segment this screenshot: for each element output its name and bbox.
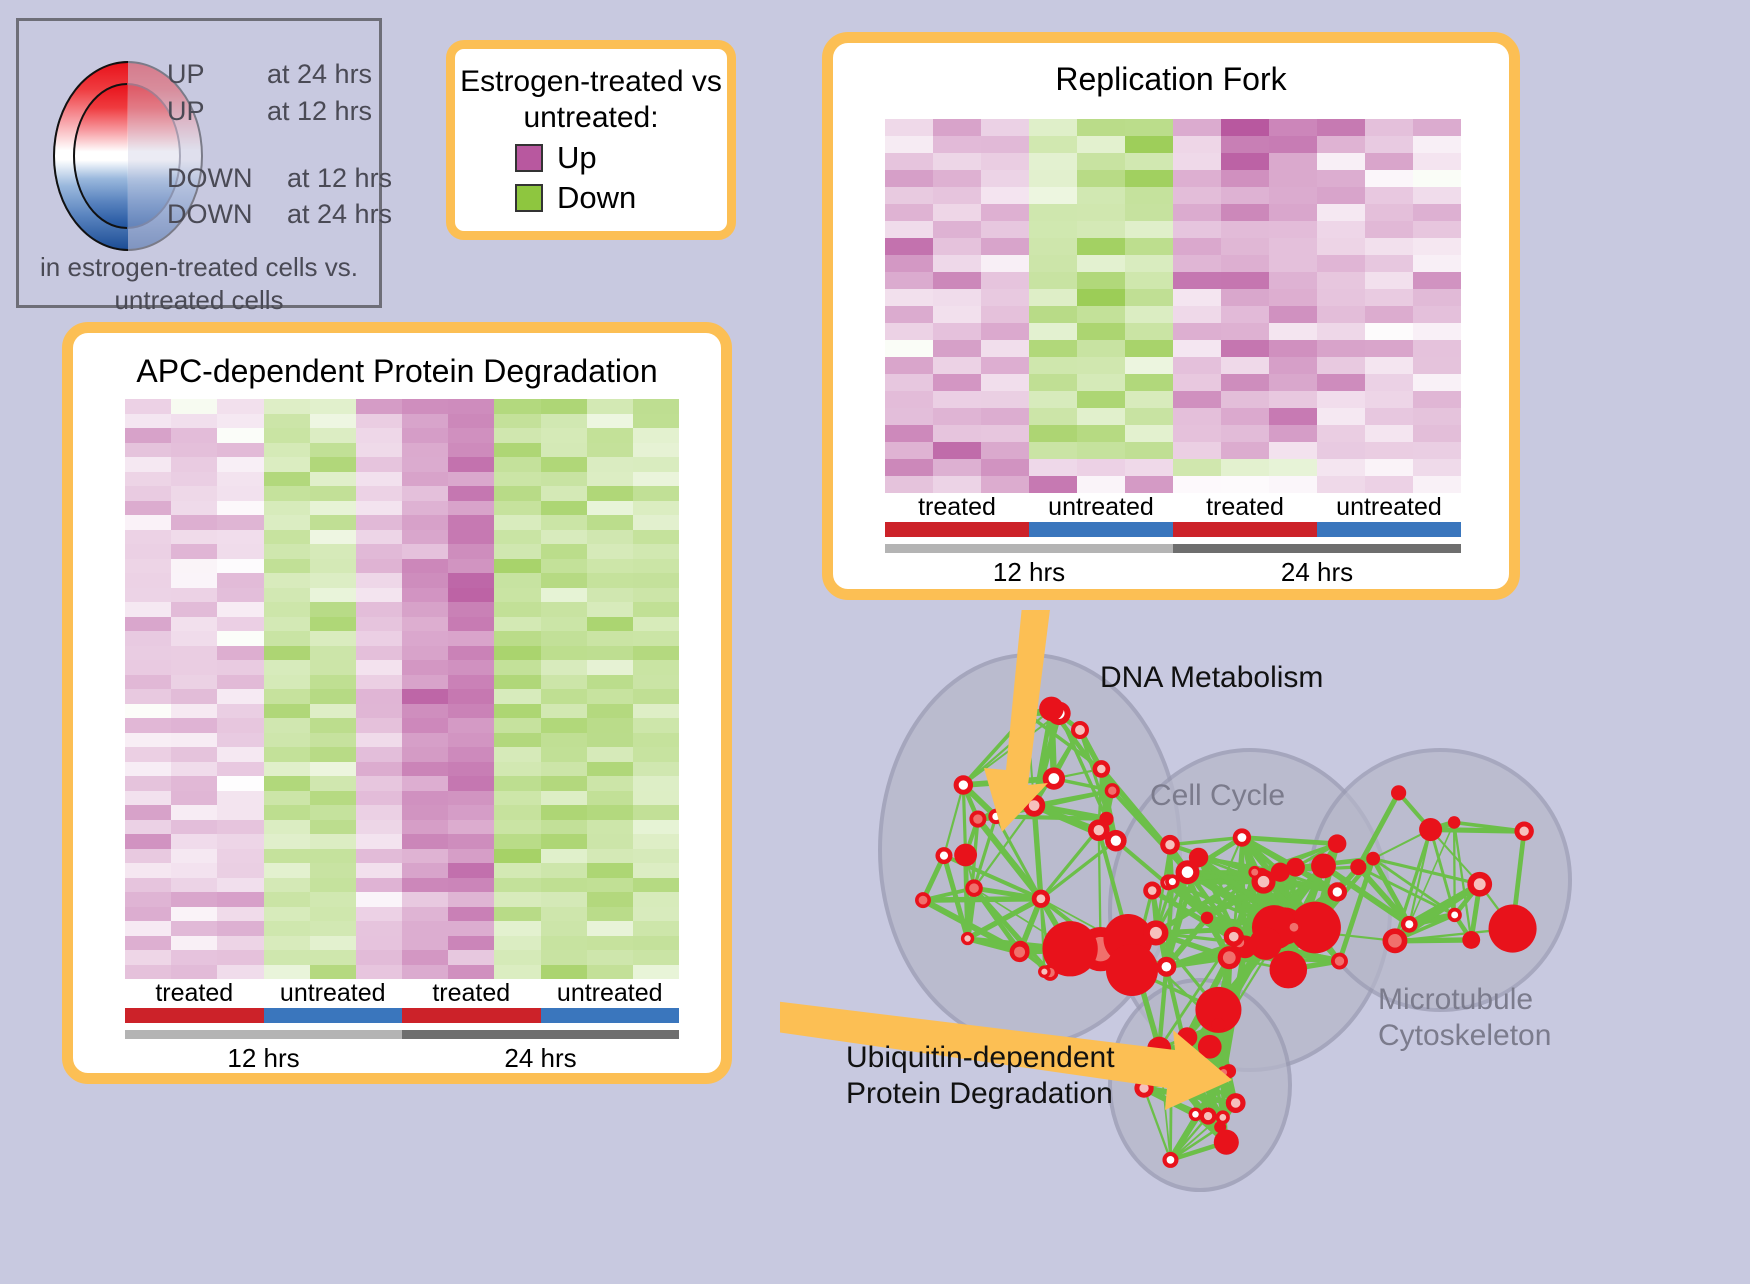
heatmap-cell xyxy=(1029,136,1077,153)
heatmap-cell xyxy=(1125,153,1173,170)
heatmap-cell xyxy=(1125,476,1173,493)
heatmap-cell xyxy=(217,704,263,719)
heatmap-cell xyxy=(402,776,448,791)
heatmap-cell xyxy=(933,408,981,425)
condition-color-bar xyxy=(1029,522,1173,537)
heatmap-cell xyxy=(1413,374,1461,391)
heatmap-cell xyxy=(356,443,402,458)
heatmap-cell xyxy=(310,776,356,791)
condition-color-bar xyxy=(264,1008,403,1023)
heatmap-cell xyxy=(310,863,356,878)
heatmap-cell xyxy=(1269,340,1317,357)
heatmap-cell xyxy=(264,588,310,603)
legend-row-down: Down xyxy=(515,180,636,216)
network-node-core xyxy=(1474,878,1486,890)
heatmap-cell xyxy=(587,414,633,429)
heatmap-cell xyxy=(1173,204,1221,221)
heatmap-cell xyxy=(494,791,540,806)
heatmap-cell xyxy=(310,399,356,414)
heatmap-cell xyxy=(448,878,494,893)
heatmap-cell xyxy=(1269,255,1317,272)
heatmap-cell xyxy=(541,863,587,878)
network-node[interactable] xyxy=(1350,859,1366,875)
heatmap-cell xyxy=(633,675,679,690)
heatmap-cell xyxy=(587,588,633,603)
heatmap-cell xyxy=(1317,255,1365,272)
network-node[interactable] xyxy=(954,844,977,867)
heatmap-cell xyxy=(633,399,679,414)
heatmap-cell xyxy=(494,747,540,762)
heatmap-cell xyxy=(494,892,540,907)
heatmap-cell xyxy=(494,588,540,603)
heatmap-cell xyxy=(541,704,587,719)
heatmap-cell xyxy=(981,238,1029,255)
heatmap-cell xyxy=(171,805,217,820)
heatmap-cell xyxy=(125,733,171,748)
heatmap-cell xyxy=(448,805,494,820)
heatmap-cell xyxy=(541,646,587,661)
heatmap-cell xyxy=(402,907,448,922)
heatmap-cell xyxy=(402,892,448,907)
network-node[interactable] xyxy=(1201,912,1213,924)
network-node-core xyxy=(1048,773,1059,784)
heatmap-cell xyxy=(633,486,679,501)
heatmap-cell xyxy=(448,443,494,458)
condition-label: treated xyxy=(402,979,541,1008)
heatmap-cell xyxy=(1077,357,1125,374)
heatmap-cell xyxy=(402,472,448,487)
network-node[interactable] xyxy=(1214,1130,1239,1155)
heatmap-cell xyxy=(356,776,402,791)
heatmap-cell xyxy=(1173,153,1221,170)
heatmap-cell xyxy=(494,762,540,777)
network-node[interactable] xyxy=(1366,852,1380,866)
heatmap-cell xyxy=(494,515,540,530)
network-node-core xyxy=(1290,923,1299,932)
heatmap-cell xyxy=(1221,459,1269,476)
heatmap-cell xyxy=(1125,425,1173,442)
legend-caption: in estrogen-treated cells vs. untreated … xyxy=(19,251,379,317)
heatmap-cell xyxy=(933,119,981,136)
heatmap-cell xyxy=(125,414,171,429)
heatmap-cell xyxy=(1365,153,1413,170)
network-node-core xyxy=(1251,869,1258,876)
heatmap-cell xyxy=(981,289,1029,306)
heatmap-cell xyxy=(448,733,494,748)
heatmap-cell xyxy=(125,704,171,719)
heatmap-cell xyxy=(125,863,171,878)
apc-condition-labels: treateduntreatedtreateduntreated xyxy=(125,979,679,1008)
heatmap-cell xyxy=(402,834,448,849)
heatmap-cell xyxy=(402,530,448,545)
heatmap-cell xyxy=(1269,306,1317,323)
heatmap-cell xyxy=(1077,323,1125,340)
network-node-core xyxy=(1388,934,1402,948)
heatmap-cell xyxy=(633,936,679,951)
heatmap-cell xyxy=(125,501,171,516)
heatmap-cell xyxy=(587,530,633,545)
heatmap-cell xyxy=(1413,238,1461,255)
heatmap-cell xyxy=(1269,119,1317,136)
heatmap-cell xyxy=(171,428,217,443)
heatmap-cell xyxy=(356,834,402,849)
heatmap-cell xyxy=(494,486,540,501)
heatmap-cell xyxy=(448,457,494,472)
heatmap-cell xyxy=(125,588,171,603)
heatmap-cell xyxy=(310,617,356,632)
network-node[interactable] xyxy=(1269,951,1307,989)
heatmap-cell xyxy=(264,486,310,501)
heatmap-cell xyxy=(494,820,540,835)
heatmap-cell xyxy=(356,573,402,588)
network-node-core xyxy=(1167,1156,1175,1164)
heatmap-cell xyxy=(1125,170,1173,187)
heatmap-cell xyxy=(1077,476,1125,493)
heatmap-cell xyxy=(1173,119,1221,136)
heatmap-cell xyxy=(587,878,633,893)
heatmap-cell xyxy=(1365,442,1413,459)
network-node-core xyxy=(1204,1112,1212,1120)
heatmap-cell xyxy=(1125,323,1173,340)
heatmap-cell xyxy=(125,559,171,574)
heatmap-cell xyxy=(310,950,356,965)
heatmap-cell xyxy=(1317,204,1365,221)
heatmap-cell xyxy=(541,573,587,588)
heatmap-cell xyxy=(981,357,1029,374)
heatmap-cell xyxy=(541,559,587,574)
heatmap-cell xyxy=(356,660,402,675)
heatmap-cell xyxy=(1269,221,1317,238)
heatmap-cell xyxy=(217,414,263,429)
heatmap-cell xyxy=(402,849,448,864)
heatmap-cell xyxy=(633,892,679,907)
heatmap-cell xyxy=(1029,153,1077,170)
heatmap-cell xyxy=(981,374,1029,391)
network-node[interactable] xyxy=(1448,816,1461,829)
heatmap-cell xyxy=(217,559,263,574)
heatmap-cell xyxy=(264,573,310,588)
heatmap-cell xyxy=(402,457,448,472)
network-node[interactable] xyxy=(1391,785,1406,800)
heatmap-cell xyxy=(587,617,633,632)
heatmap-cell xyxy=(981,476,1029,493)
heatmap-cell xyxy=(310,849,356,864)
heatmap-cell xyxy=(402,660,448,675)
network-node[interactable] xyxy=(1039,697,1064,722)
heatmap-cell xyxy=(1317,476,1365,493)
heatmap-cell xyxy=(310,486,356,501)
heatmap-cell xyxy=(541,689,587,704)
heatmap-cell xyxy=(981,391,1029,408)
heatmap-cell xyxy=(981,187,1029,204)
heatmap-cell xyxy=(402,762,448,777)
heatmap-cell xyxy=(587,704,633,719)
heatmap-cell xyxy=(264,443,310,458)
time-label: 24 hrs xyxy=(1173,557,1461,588)
heatmap-cell xyxy=(1173,408,1221,425)
heatmap-cell xyxy=(587,805,633,820)
heatmap-cell xyxy=(125,718,171,733)
network-node-core xyxy=(1192,1111,1199,1118)
heatmap-cell xyxy=(356,965,402,980)
heatmap-cell xyxy=(402,602,448,617)
heatmap-cell xyxy=(217,472,263,487)
heatmap-cell xyxy=(1413,204,1461,221)
network-node[interactable] xyxy=(1286,858,1305,877)
heatmap-cell xyxy=(402,878,448,893)
heatmap-cell xyxy=(310,704,356,719)
time-color-bar xyxy=(125,1030,402,1039)
network-node[interactable] xyxy=(1189,848,1208,867)
heatmap-cell xyxy=(633,863,679,878)
replication-fork-time-bar xyxy=(885,544,1461,553)
network-node-core xyxy=(1219,1114,1226,1121)
heatmap-cell xyxy=(1029,170,1077,187)
heatmap-cell xyxy=(1413,323,1461,340)
network-node-core xyxy=(1014,947,1025,958)
heatmap-cell xyxy=(541,602,587,617)
heatmap-cell xyxy=(633,965,679,980)
heatmap-cell xyxy=(356,863,402,878)
heatmap-cell xyxy=(1317,119,1365,136)
heatmap-cell xyxy=(217,820,263,835)
heatmap-cell xyxy=(1365,323,1413,340)
condition-color-bar xyxy=(1173,522,1317,537)
time-label: 12 hrs xyxy=(125,1043,402,1074)
heatmap-cell xyxy=(1365,374,1413,391)
heatmap-cell xyxy=(981,323,1029,340)
heatmap-cell xyxy=(494,834,540,849)
heatmap-cell xyxy=(402,921,448,936)
heatmap-cell xyxy=(125,878,171,893)
heatmap-cell xyxy=(264,849,310,864)
heatmap-cell xyxy=(356,588,402,603)
heatmap-cell xyxy=(448,646,494,661)
heatmap-cell xyxy=(494,573,540,588)
heatmap-cell xyxy=(448,820,494,835)
heatmap-cell xyxy=(448,718,494,733)
heatmap-cell xyxy=(1221,153,1269,170)
heatmap-cell xyxy=(264,733,310,748)
heatmap-cell xyxy=(448,472,494,487)
heatmap-cell xyxy=(1365,204,1413,221)
time-color-bar xyxy=(885,544,1173,553)
heatmap-cell xyxy=(494,965,540,980)
heatmap-cell xyxy=(1317,238,1365,255)
heatmap-cell xyxy=(217,907,263,922)
heatmap-cell xyxy=(125,631,171,646)
heatmap-cell xyxy=(402,950,448,965)
heatmap-cell xyxy=(1269,170,1317,187)
heatmap-cell xyxy=(264,863,310,878)
network-node-core xyxy=(1162,962,1172,972)
heatmap-cell xyxy=(981,306,1029,323)
heatmap-cell xyxy=(356,921,402,936)
heatmap-cell xyxy=(264,747,310,762)
heatmap-cell xyxy=(1029,476,1077,493)
heatmap-cell xyxy=(587,486,633,501)
heatmap-cell xyxy=(356,849,402,864)
updown-legend-title: Estrogen-treated vs untreated: xyxy=(455,64,727,136)
time-label: 12 hrs xyxy=(885,557,1173,588)
heatmap-cell xyxy=(981,459,1029,476)
heatmap-cell xyxy=(1173,323,1221,340)
network-node-core xyxy=(1036,894,1045,903)
heatmap-cell xyxy=(541,762,587,777)
time-color-bar xyxy=(1173,544,1461,553)
heatmap-cell xyxy=(217,660,263,675)
heatmap-cell xyxy=(633,515,679,530)
heatmap-cell xyxy=(587,501,633,516)
heatmap-cell xyxy=(310,414,356,429)
heatmap-cell xyxy=(494,921,540,936)
heatmap-cell xyxy=(1317,408,1365,425)
heatmap-cell xyxy=(494,878,540,893)
heatmap-cell xyxy=(171,762,217,777)
heatmap-cell xyxy=(402,486,448,501)
heatmap-cell xyxy=(1365,119,1413,136)
condition-color-bar xyxy=(402,1008,541,1023)
heatmap-cell xyxy=(981,204,1029,221)
heatmap-cell xyxy=(1413,153,1461,170)
heatmap-cell xyxy=(448,704,494,719)
heatmap-cell xyxy=(310,878,356,893)
heatmap-cell xyxy=(1029,255,1077,272)
heatmap-cell xyxy=(541,936,587,951)
heatmap-cell xyxy=(356,486,402,501)
heatmap-cell xyxy=(981,255,1029,272)
replication-fork-plot: treateduntreatedtreateduntreated 12 hrs2… xyxy=(885,119,1461,588)
heatmap-cell xyxy=(264,515,310,530)
heatmap-cell xyxy=(310,675,356,690)
heatmap-cell xyxy=(1077,153,1125,170)
heatmap-cell xyxy=(171,602,217,617)
heatmap-cell xyxy=(171,733,217,748)
heatmap-cell xyxy=(310,791,356,806)
heatmap-cell xyxy=(448,486,494,501)
heatmap-cell xyxy=(1413,391,1461,408)
heatmap-cell xyxy=(587,907,633,922)
heatmap-cell xyxy=(448,863,494,878)
heatmap-cell xyxy=(264,950,310,965)
heatmap-cell xyxy=(1077,272,1125,289)
heatmap-cell xyxy=(171,617,217,632)
network-node[interactable] xyxy=(1106,944,1158,996)
heatmap-cell xyxy=(217,573,263,588)
heatmap-cell xyxy=(541,515,587,530)
network-node[interactable] xyxy=(1462,931,1480,949)
network-node-core xyxy=(919,896,928,905)
heatmap-cell xyxy=(541,428,587,443)
heatmap-cell xyxy=(633,921,679,936)
heatmap-cell xyxy=(633,718,679,733)
network-node-core xyxy=(959,780,968,789)
heatmap-cell xyxy=(310,530,356,545)
heatmap-cell xyxy=(264,414,310,429)
heatmap-cell xyxy=(541,660,587,675)
heatmap-cell xyxy=(933,323,981,340)
heatmap-cell xyxy=(587,863,633,878)
heatmap-cell xyxy=(1173,221,1221,238)
heatmap-cell xyxy=(587,718,633,733)
heatmap-cell xyxy=(217,602,263,617)
wheel-value-down-24: at 24 hrs xyxy=(287,199,392,230)
condition-color-bar xyxy=(1317,522,1461,537)
heatmap-cell xyxy=(356,747,402,762)
network-node[interactable] xyxy=(1211,1018,1225,1032)
heatmap-cell xyxy=(171,675,217,690)
heatmap-cell xyxy=(494,733,540,748)
heatmap-cell xyxy=(171,472,217,487)
heatmap-cell xyxy=(933,340,981,357)
heatmap-cell xyxy=(1221,136,1269,153)
network-node[interactable] xyxy=(1489,905,1537,953)
heatmap-cell xyxy=(1125,459,1173,476)
replication-fork-heatmap xyxy=(885,119,1461,493)
heatmap-cell xyxy=(1365,425,1413,442)
network-node[interactable] xyxy=(1328,834,1347,853)
heatmap-cell xyxy=(448,617,494,632)
heatmap-cell xyxy=(1413,272,1461,289)
network-node[interactable] xyxy=(1311,853,1336,878)
colorwheel-diagram xyxy=(53,43,183,253)
heatmap-cell xyxy=(1077,136,1125,153)
heatmap-cell xyxy=(402,544,448,559)
heatmap-cell xyxy=(171,747,217,762)
heatmap-cell xyxy=(125,486,171,501)
heatmap-cell xyxy=(633,602,679,617)
heatmap-cell xyxy=(1365,476,1413,493)
heatmap-cell xyxy=(933,238,981,255)
heatmap-cell xyxy=(310,762,356,777)
condition-label: untreated xyxy=(541,979,680,1008)
heatmap-cell xyxy=(1317,187,1365,204)
heatmap-cell xyxy=(402,936,448,951)
down-swatch-icon xyxy=(515,184,543,212)
heatmap-cell xyxy=(981,442,1029,459)
heatmap-cell xyxy=(264,530,310,545)
network-node-core xyxy=(1041,969,1047,975)
heatmap-cell xyxy=(1365,221,1413,238)
network-node-core xyxy=(1223,951,1236,964)
up-label: Up xyxy=(557,140,597,176)
heatmap-cell xyxy=(633,689,679,704)
heatmap-cell xyxy=(264,762,310,777)
heatmap-cell xyxy=(1365,459,1413,476)
heatmap-cell xyxy=(217,544,263,559)
heatmap-cell xyxy=(1413,255,1461,272)
heatmap-cell xyxy=(125,892,171,907)
heatmap-cell xyxy=(448,892,494,907)
heatmap-cell xyxy=(587,443,633,458)
heatmap-cell xyxy=(541,747,587,762)
heatmap-cell xyxy=(633,530,679,545)
network-node-core xyxy=(940,852,948,860)
heatmap-cell xyxy=(1077,170,1125,187)
heatmap-cell xyxy=(1413,187,1461,204)
down-label: Down xyxy=(557,180,636,216)
heatmap-cell xyxy=(310,573,356,588)
heatmap-cell xyxy=(885,442,933,459)
heatmap-cell xyxy=(494,399,540,414)
heatmap-cell xyxy=(171,573,217,588)
heatmap-cell xyxy=(217,834,263,849)
heatmap-cell xyxy=(125,834,171,849)
heatmap-cell xyxy=(494,849,540,864)
network-node[interactable] xyxy=(1419,818,1442,841)
apc-title: APC-dependent Protein Degradation xyxy=(73,353,721,390)
heatmap-cell xyxy=(981,170,1029,187)
